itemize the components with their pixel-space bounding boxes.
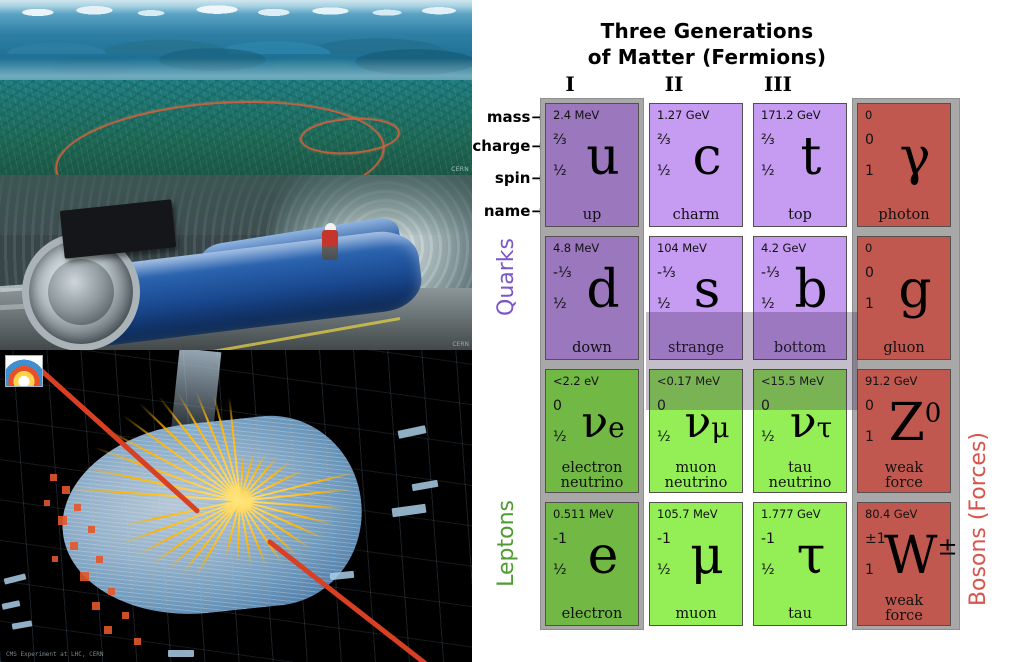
particle-symbol: u: [572, 120, 634, 194]
aerial-photo-credit: CERN: [451, 166, 469, 173]
particle-symbol: γ: [884, 120, 946, 194]
row-label-name: name→: [484, 202, 544, 220]
particle-charge: ⅔: [761, 132, 775, 148]
particle-spin: ½: [553, 429, 567, 445]
ecal-deposit: [44, 500, 50, 506]
particle-symbol: W±: [884, 519, 946, 593]
symbol-glyph: ν: [685, 397, 712, 448]
particle-symbol: μ: [676, 519, 738, 593]
particle-spin: ½: [657, 429, 671, 445]
particle-spin: ½: [657, 296, 671, 312]
lhc-tunnel-photo: CERN: [0, 175, 472, 350]
particle-name-line-1: tau: [754, 461, 846, 476]
symbol-subscript: μ: [711, 411, 729, 444]
particle-charge: ±1: [865, 531, 886, 547]
symbol-glyph: W: [884, 526, 937, 586]
particle-cell-bottom[interactable]: 4.2 GeV -⅓ ½ b bottom: [753, 236, 847, 360]
particle-cell-w-boson[interactable]: 80.4 GeV ±1 1 W± weak force: [857, 502, 951, 626]
particle-symbol: νe: [572, 386, 634, 460]
group-label-bosons: Bosons (Forces): [966, 432, 991, 606]
particle-spin: ½: [761, 429, 775, 445]
particle-spin: ½: [761, 562, 775, 578]
particle-symbol: νμ: [676, 386, 738, 460]
particle-name: tau neutrino: [754, 461, 846, 491]
particle-name: down: [546, 341, 638, 356]
title-line-2: of Matter (Fermions): [472, 44, 942, 70]
ecal-deposit: [104, 626, 112, 634]
particle-spin: ½: [553, 296, 567, 312]
symbol-glyph: Z: [889, 393, 925, 453]
particle-name: charm: [650, 208, 742, 223]
ecal-deposit: [70, 542, 78, 550]
particle-name: gluon: [858, 341, 950, 356]
particle-symbol: c: [676, 120, 738, 194]
row-label-spin-text: spin: [495, 169, 531, 187]
ecal-deposit: [134, 638, 141, 645]
particle-charge: 0: [865, 132, 874, 148]
cms-collision-event-display: CMS Experiment at LHC, CERN: [0, 350, 472, 662]
group-label-leptons: Leptons: [494, 500, 519, 587]
image-column: CERN CERN: [0, 0, 472, 662]
particle-mass: 0: [865, 241, 872, 255]
generation-header-2: II: [644, 72, 704, 96]
particle-name: muon neutrino: [650, 461, 742, 491]
particle-symbol: τ: [780, 519, 842, 593]
particle-charge: -1: [657, 531, 671, 547]
event-run-info: CMS Experiment at LHC, CERN: [6, 651, 104, 658]
particle-spin: ½: [553, 163, 567, 179]
particle-charge: 0: [761, 398, 770, 414]
particle-name: up: [546, 208, 638, 223]
particle-cell-electron[interactable]: 0.511 MeV -1 ½ e electron: [545, 502, 639, 626]
symbol-subscript: e: [608, 411, 625, 444]
particle-symbol: e: [572, 519, 634, 593]
particle-charge: -1: [761, 531, 775, 547]
particle-cell-photon[interactable]: 0 0 1 γ photon: [857, 103, 951, 227]
title-line-1: Three Generations: [472, 18, 942, 44]
particle-cell-charm[interactable]: 1.27 GeV ⅔ ½ c charm: [649, 103, 743, 227]
particle-name: electron: [546, 607, 638, 622]
hcal-tower-cluster: [168, 650, 194, 657]
particle-charge: -⅓: [761, 265, 780, 281]
cern-lhc-aerial-photo: CERN: [0, 0, 472, 175]
symbol-subscript: τ: [817, 411, 833, 444]
particle-name: strange: [650, 341, 742, 356]
ecal-deposit: [52, 556, 58, 562]
cms-logo-icon: [5, 355, 43, 387]
particle-charge: ⅔: [553, 132, 567, 148]
ecal-deposit: [88, 526, 95, 533]
particle-name-line-2: neutrino: [754, 476, 846, 491]
particle-mass: 0: [865, 108, 872, 122]
particle-cell-top[interactable]: 171.2 GeV ⅔ ½ t top: [753, 103, 847, 227]
particle-symbol: s: [676, 253, 738, 327]
ecal-deposit: [80, 572, 89, 581]
particle-spin: 1: [865, 429, 874, 445]
generation-headers: I II III: [540, 72, 870, 98]
particle-cell-tau[interactable]: 1.777 GeV -1 ½ τ tau: [753, 502, 847, 626]
particle-cell-electron-neutrino[interactable]: <2.2 eV 0 ½ νe electron neutrino: [545, 369, 639, 493]
row-label-charge-text: charge: [472, 137, 530, 155]
particle-name: bottom: [754, 341, 846, 356]
particle-cell-z-boson[interactable]: 91.2 GeV 0 1 Z0 weak force: [857, 369, 951, 493]
generation-header-1: I: [540, 72, 600, 96]
standard-model-poster: CERN CERN: [0, 0, 1014, 662]
particle-name-line-1: muon: [650, 461, 742, 476]
particle-charge: 0: [865, 398, 874, 414]
particle-spin: ½: [553, 562, 567, 578]
particle-cell-strange[interactable]: 104 MeV -⅓ ½ s strange: [649, 236, 743, 360]
particle-cell-tau-neutrino[interactable]: <15.5 MeV 0 ½ ντ tau neutrino: [753, 369, 847, 493]
particle-cell-down[interactable]: 4.8 MeV -⅓ ½ d down: [545, 236, 639, 360]
particle-spin: ½: [657, 562, 671, 578]
tunnel-photo-credit: CERN: [452, 341, 469, 348]
particle-charge: -1: [553, 531, 567, 547]
particle-spin: ½: [657, 163, 671, 179]
symbol-glyph: ν: [790, 397, 817, 448]
row-label-charge: charge→: [472, 137, 544, 155]
dipole-magnet-bore: [48, 259, 114, 325]
particle-spin: ½: [761, 163, 775, 179]
particle-symbol: d: [572, 253, 634, 327]
particle-name: top: [754, 208, 846, 223]
ecal-deposit: [122, 612, 129, 619]
particle-cell-up[interactable]: 2.4 MeV ⅔ ½ u up: [545, 103, 639, 227]
particle-charge: 0: [657, 398, 666, 414]
ecal-deposit: [74, 504, 81, 511]
particle-name: muon: [650, 607, 742, 622]
ecal-deposit: [108, 588, 115, 595]
particle-charge: -⅓: [657, 265, 676, 281]
particle-name: weak force: [858, 461, 950, 491]
symbol-superscript: ±: [937, 533, 957, 561]
particle-charge: -⅓: [553, 265, 572, 281]
ecal-deposit: [58, 516, 67, 525]
ecal-deposit: [62, 486, 70, 494]
particle-cell-muon-neutrino[interactable]: <0.17 MeV 0 ½ νμ muon neutrino: [649, 369, 743, 493]
particle-grid: 2.4 MeV ⅔ ½ u up 1.27 GeV ⅔ ½ c charm 17…: [540, 98, 960, 630]
row-label-name-text: name: [484, 202, 531, 220]
row-label-mass-text: mass: [487, 108, 531, 126]
particle-symbol: t: [780, 120, 842, 194]
particle-spin: ½: [761, 296, 775, 312]
particle-cell-muon[interactable]: 105.7 MeV -1 ½ μ muon: [649, 502, 743, 626]
generation-header-3: III: [748, 72, 808, 96]
particle-symbol: g: [884, 253, 946, 327]
ecal-deposit: [96, 556, 103, 563]
particle-symbol: ντ: [780, 386, 842, 460]
particle-symbol: Z0: [884, 386, 946, 460]
particle-name-line-2: neutrino: [650, 476, 742, 491]
particle-spin: 1: [865, 163, 874, 179]
symbol-superscript: 0: [925, 399, 942, 429]
standard-model-table: Three Generations of Matter (Fermions) I…: [472, 0, 1014, 662]
particle-spin: 1: [865, 562, 874, 578]
row-label-spin: spin→: [495, 169, 544, 187]
technician-helmet: [325, 223, 336, 230]
group-label-quarks: Quarks: [494, 238, 519, 316]
particle-name: tau: [754, 607, 846, 622]
particle-charge: ⅔: [657, 132, 671, 148]
particle-charge: 0: [865, 265, 874, 281]
particle-name: weak force: [858, 594, 950, 624]
particle-name: electron neutrino: [546, 461, 638, 491]
technician-figure: [322, 230, 338, 260]
particle-name-line-2: force: [858, 476, 950, 491]
particle-name-line-1: weak: [858, 461, 950, 476]
particle-name: photon: [858, 208, 950, 223]
particle-charge: 0: [553, 398, 562, 414]
particle-cell-gluon[interactable]: 0 0 1 g gluon: [857, 236, 951, 360]
particle-name-line-2: force: [858, 609, 950, 624]
symbol-glyph: ν: [581, 397, 608, 448]
page-title: Three Generations of Matter (Fermions): [472, 18, 942, 71]
row-label-mass: mass→: [487, 108, 544, 126]
particle-name-line-1: weak: [858, 594, 950, 609]
particle-symbol: b: [780, 253, 842, 327]
ecal-deposit: [92, 602, 100, 610]
ecal-deposit: [50, 474, 57, 481]
particle-name-line-1: electron: [546, 461, 638, 476]
particle-name-line-2: neutrino: [546, 476, 638, 491]
particle-spin: 1: [865, 296, 874, 312]
